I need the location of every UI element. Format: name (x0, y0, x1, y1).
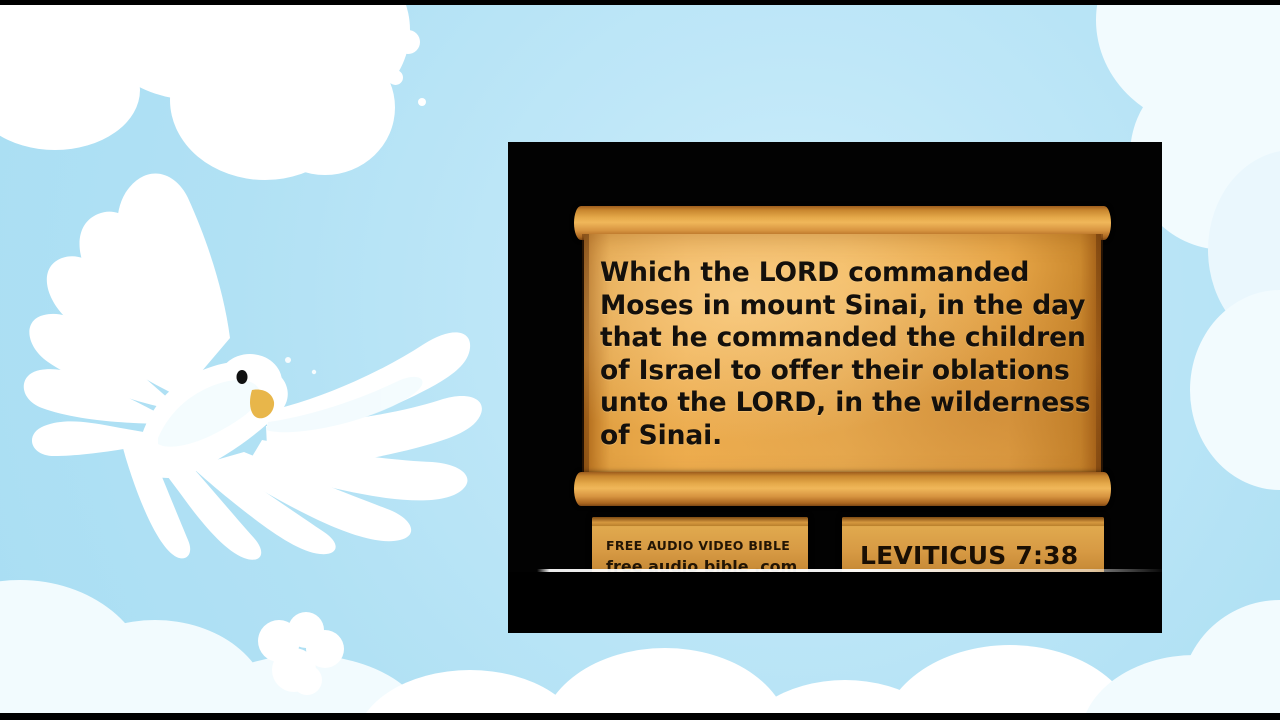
cloud-bubble (388, 70, 403, 85)
cloud-bubble (418, 98, 426, 106)
cloud-bubble (396, 30, 420, 54)
cloud-shape (292, 665, 322, 695)
plaque-cap (592, 517, 808, 526)
bible-verse-text: Which the LORD commanded Moses in mount … (600, 257, 1094, 452)
branding-line-1: FREE AUDIO VIDEO BIBLE (606, 538, 800, 553)
scroll-roller-bottom (574, 472, 1111, 506)
dove-icon (18, 120, 518, 550)
player-control-shade (508, 572, 1162, 633)
letterbox-bar-bottom (0, 713, 1280, 720)
dove-eye-icon (237, 370, 248, 384)
plaque-cap (842, 517, 1104, 526)
verse-reference-text: LEVITICUS 7:38 (860, 541, 1096, 570)
letterbox-bar-top (0, 0, 1280, 5)
video-progress-bar[interactable] (537, 569, 1162, 572)
video-player[interactable]: Which the LORD commanded Moses in mount … (508, 142, 1162, 633)
screen: Which the LORD commanded Moses in mount … (0, 0, 1280, 720)
